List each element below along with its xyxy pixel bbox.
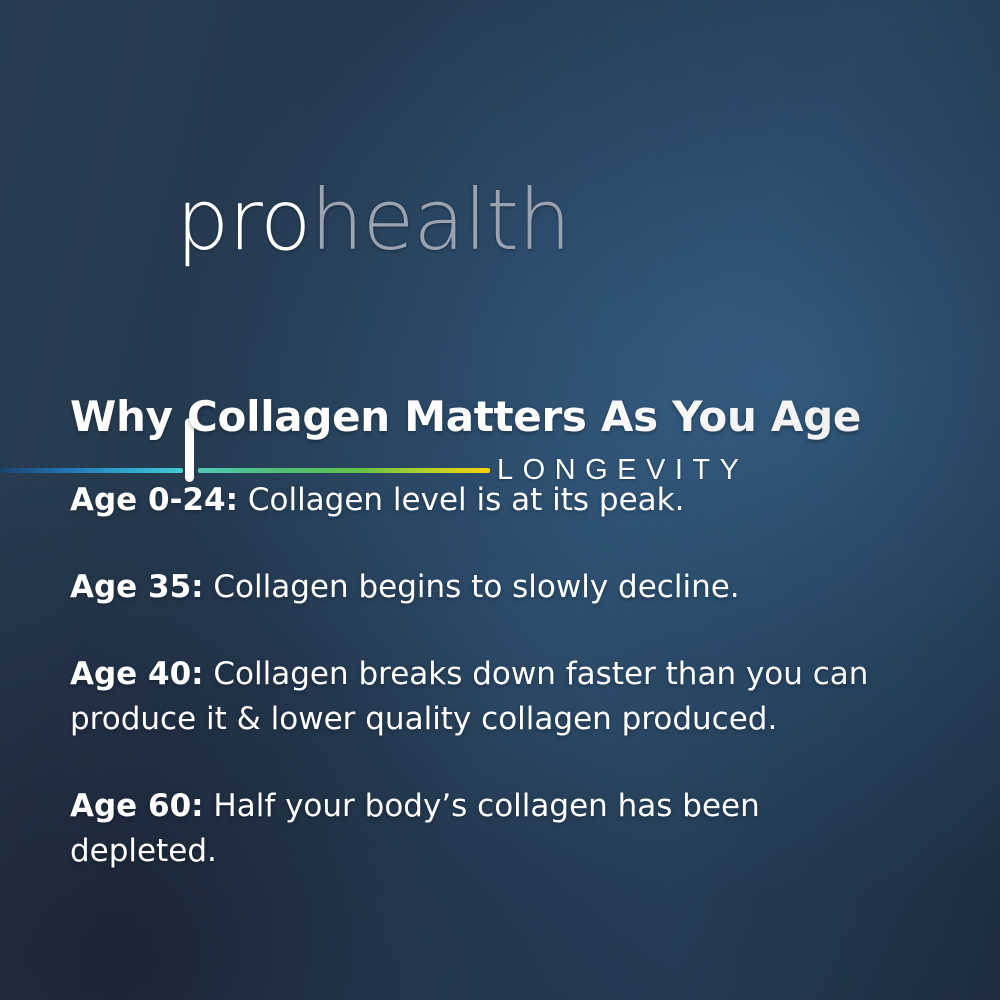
fact-item-age-0-24: Age 0-24: Collagen level is at its peak. xyxy=(70,478,930,523)
content-area: Why Collagen Matters As You Age Age 0-24… xyxy=(70,392,950,874)
fact-age-label: Age 35: xyxy=(70,569,204,605)
fact-age-label: Age 0-24: xyxy=(70,482,238,518)
fact-age-label: Age 60: xyxy=(70,788,204,824)
fact-item-age-60: Age 60: Half your body’s collagen has be… xyxy=(70,784,870,874)
page-title: Why Collagen Matters As You Age xyxy=(70,392,950,442)
brand-wordmark-pro: pro xyxy=(176,171,310,269)
collagen-infographic-poster: prohealth LONGEVITY Why Collagen Matters… xyxy=(0,0,1000,1000)
fact-text: Collagen begins to slowly decline. xyxy=(204,569,740,605)
brand-wordmark: prohealth xyxy=(176,178,570,262)
fact-age-label: Age 40: xyxy=(70,656,204,692)
fact-text: Collagen level is at its peak. xyxy=(238,482,684,518)
brand-wordmark-health: health xyxy=(310,171,570,269)
fact-item-age-35: Age 35: Collagen begins to slowly declin… xyxy=(70,565,930,610)
fact-item-age-40: Age 40: Collagen breaks down faster than… xyxy=(70,652,950,742)
brand-logo: prohealth LONGEVITY xyxy=(0,178,1000,318)
